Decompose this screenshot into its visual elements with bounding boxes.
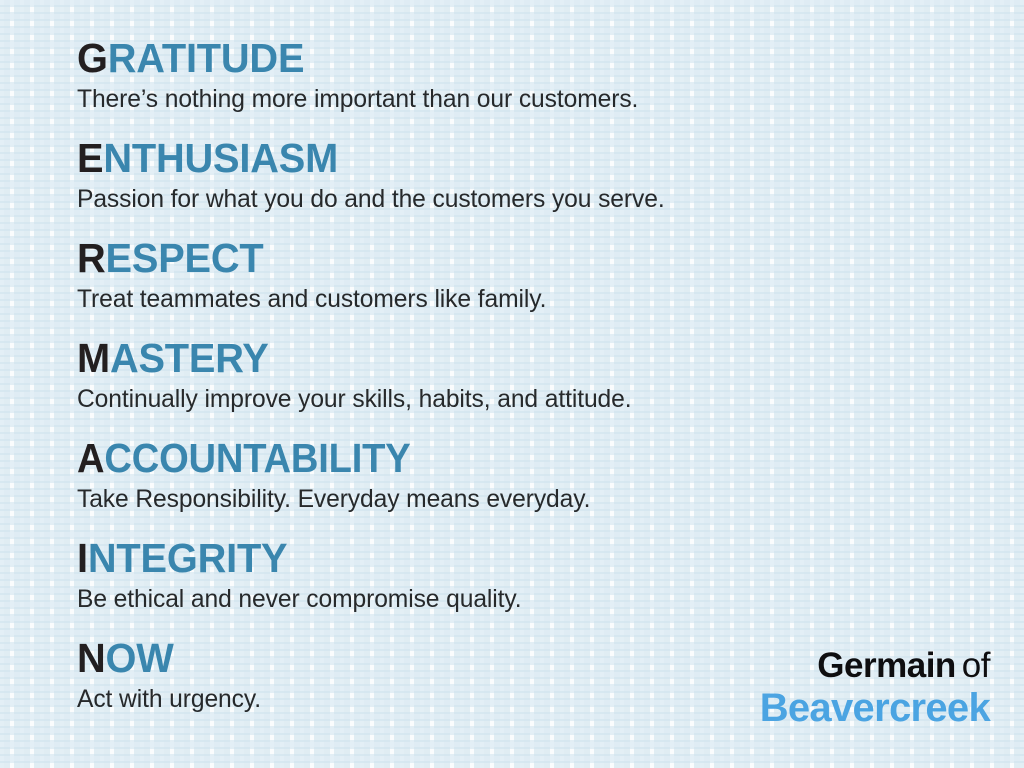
logo-brand-name: Germain	[817, 646, 956, 685]
value-description-accountability: Take Responsibility. Everyday means ever…	[77, 480, 964, 515]
value-description-mastery: Continually improve your skills, habits,…	[77, 380, 964, 415]
value-heading-remainder: ASTERY	[110, 335, 269, 381]
core-values-list: GRATITUDE There’s nothing more important…	[77, 36, 977, 736]
value-initial-letter: G	[77, 35, 108, 81]
logo-connector-word: of	[962, 646, 990, 685]
value-heading-remainder: RATITUDE	[108, 35, 305, 81]
value-heading-remainder: OW	[106, 635, 174, 681]
logo-primary-line: Germainof	[760, 646, 990, 686]
value-heading-remainder: NTEGRITY	[88, 535, 288, 581]
value-description-respect: Treat teammates and customers like famil…	[77, 280, 964, 315]
value-description-gratitude: There’s nothing more important than our …	[77, 80, 964, 115]
value-heading-mastery: MASTERY	[77, 336, 950, 380]
value-description-enthusiasm: Passion for what you do and the customer…	[77, 180, 964, 215]
value-heading-gratitude: GRATITUDE	[77, 36, 950, 80]
value-block-gratitude: GRATITUDE There’s nothing more important…	[77, 36, 977, 136]
value-heading-respect: RESPECT	[77, 236, 950, 280]
value-heading-enthusiasm: ENTHUSIASM	[77, 136, 950, 180]
value-initial-letter: A	[77, 435, 104, 481]
value-block-enthusiasm: ENTHUSIASM Passion for what you do and t…	[77, 136, 977, 236]
value-block-integrity: INTEGRITY Be ethical and never compromis…	[77, 536, 977, 636]
value-initial-letter: E	[77, 135, 103, 181]
value-description-integrity: Be ethical and never compromise quality.	[77, 580, 964, 615]
value-block-mastery: MASTERY Continually improve your skills,…	[77, 336, 977, 436]
values-poster: GRATITUDE There’s nothing more important…	[0, 0, 1024, 768]
value-block-respect: RESPECT Treat teammates and customers li…	[77, 236, 977, 336]
value-initial-letter: M	[77, 335, 110, 381]
dealership-logo: Germainof Beavercreek	[760, 646, 990, 730]
value-heading-remainder: CCOUNTABILITY	[104, 435, 410, 481]
value-heading-remainder: NTHUSIASM	[103, 135, 338, 181]
value-heading-integrity: INTEGRITY	[77, 536, 950, 580]
value-initial-letter: R	[77, 235, 106, 281]
value-heading-remainder: ESPECT	[106, 235, 264, 281]
value-initial-letter: N	[77, 635, 106, 681]
value-initial-letter: I	[77, 535, 88, 581]
logo-location-name: Beavercreek	[760, 686, 990, 730]
value-heading-accountability: ACCOUNTABILITY	[77, 436, 914, 480]
value-block-accountability: ACCOUNTABILITY Take Responsibility. Ever…	[77, 436, 977, 536]
